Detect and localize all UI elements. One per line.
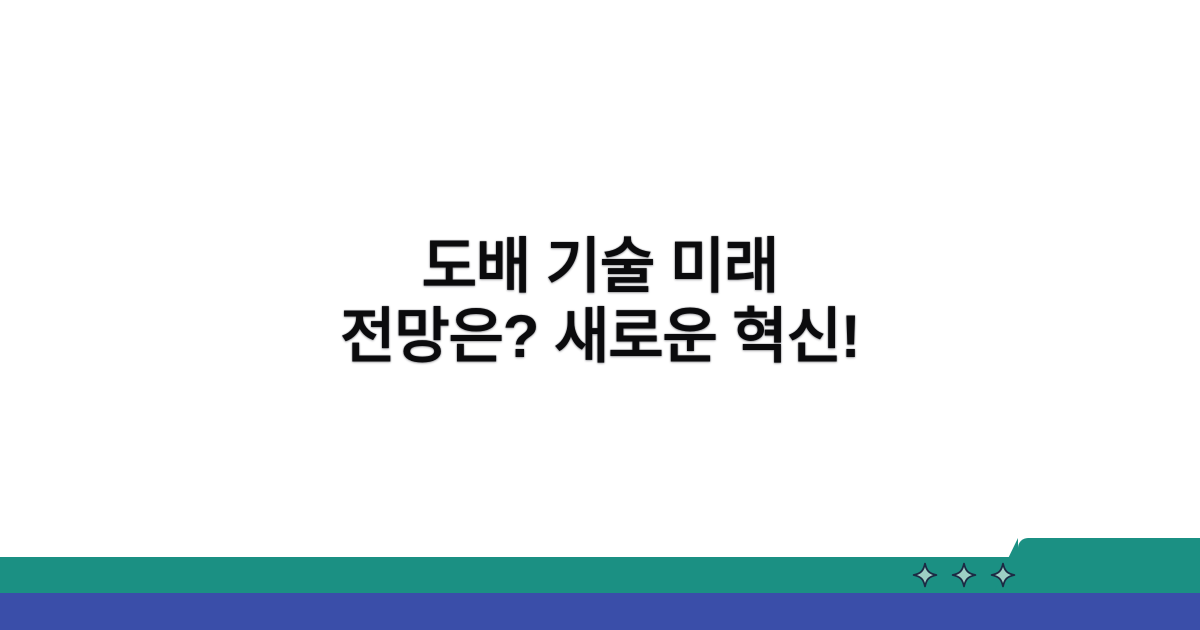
page-title: 도배 기술 미래 전망은? 새로운 혁신! bbox=[0, 232, 1200, 372]
sparkle-row bbox=[912, 561, 1016, 589]
teal-band-raised bbox=[1018, 538, 1200, 593]
sparkle-diamond-icon bbox=[951, 562, 977, 588]
blue-band bbox=[0, 593, 1200, 630]
headline-line-2: 전망은? 새로운 혁신! bbox=[40, 302, 1160, 372]
sparkle-diamond-icon bbox=[990, 562, 1016, 588]
headline-line-1: 도배 기술 미래 bbox=[40, 232, 1160, 302]
sparkle-diamond-icon bbox=[912, 562, 938, 588]
thumbnail-card: 도배 기술 미래 전망은? 새로운 혁신! bbox=[0, 0, 1200, 630]
footer-decoration bbox=[0, 535, 1200, 630]
